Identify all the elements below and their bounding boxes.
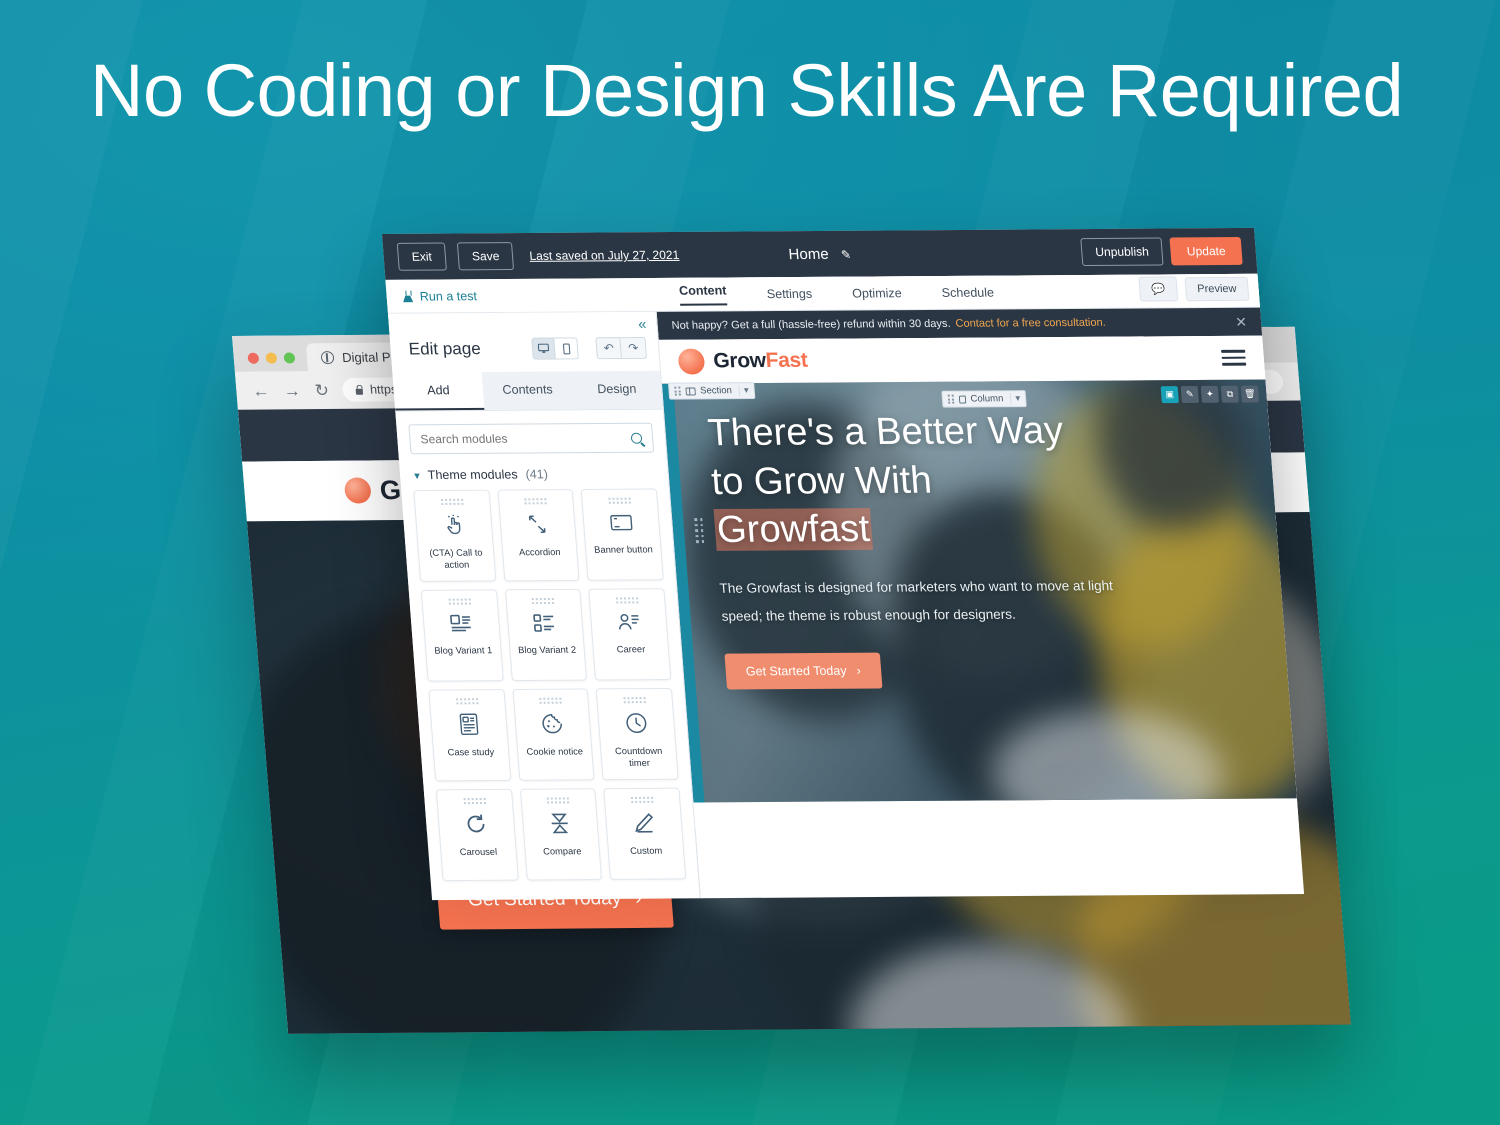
drag-handle-icon[interactable] (624, 697, 647, 703)
exit-button[interactable]: Exit (397, 243, 447, 271)
maximize-window-dot[interactable] (283, 352, 295, 363)
page-editor-window: Exit Save Last saved on July 27, 2021 Ho… (382, 228, 1299, 832)
module-card-cta[interactable]: (CTA) Call to action (413, 490, 496, 582)
canvas-logo-first: Grow (713, 349, 767, 372)
reload-icon[interactable]: ↻ (314, 382, 330, 399)
undo-icon[interactable]: ↶ (595, 337, 622, 359)
minimize-window-dot[interactable] (265, 353, 277, 364)
forward-icon[interactable]: → (283, 382, 301, 399)
cookie-icon (540, 712, 566, 741)
module-label: Banner button (590, 544, 657, 556)
wand-icon[interactable]: ✦ (1201, 386, 1219, 403)
module-card-blog-variant-2[interactable]: Blog Variant 2 (505, 589, 588, 681)
canvas-hero-heading: There's a Better Way to Grow With Growfa… (706, 405, 1278, 554)
module-card-case-study[interactable]: Case study (428, 689, 511, 781)
canvas-hero-cta-button[interactable]: Get Started Today › (724, 653, 882, 690)
collapse-panel-button[interactable]: « (388, 312, 657, 335)
drag-handle-icon[interactable] (948, 395, 954, 404)
lock-icon (355, 385, 364, 395)
editor-topbar: Exit Save Last saved on July 27, 2021 Ho… (382, 228, 1257, 280)
theme-modules-group-header[interactable]: ▾ Theme modules (41) (399, 462, 669, 490)
theme-modules-count: (41) (525, 467, 548, 481)
column-icon (958, 395, 966, 403)
module-label: (CTA) Call to action (419, 548, 495, 572)
module-label: Cookie notice (522, 746, 587, 758)
pencil-icon[interactable]: ✎ (1181, 386, 1199, 403)
section-chip-label: Section (700, 385, 733, 396)
last-saved-status[interactable]: Last saved on July 27, 2021 (529, 248, 680, 263)
mockup-stage: Digital Product ← → ↻ https://www.googl … (0, 0, 1500, 1125)
update-button[interactable]: Update (1170, 237, 1243, 265)
triangles-icon (547, 811, 573, 840)
module-grid: (CTA) Call to action Accordion (401, 488, 698, 881)
panel-title: Edit page (408, 339, 482, 359)
edit-page-panel: « Edit page ↶ ↷ (388, 312, 701, 900)
module-card-banner-button[interactable]: Banner button (581, 488, 664, 580)
diagonal-arrows-icon (525, 512, 551, 541)
tab-settings[interactable]: Settings (766, 286, 812, 300)
drag-handle-icon[interactable] (674, 387, 680, 396)
document-icon (457, 712, 481, 741)
hamburger-icon[interactable] (1221, 350, 1246, 366)
section-icon (685, 387, 696, 395)
drag-handle-icon[interactable] (463, 798, 486, 804)
logo-mark-icon (344, 477, 372, 503)
canvas-hero-cta-label: Get Started Today (745, 664, 847, 679)
drag-handle-icon[interactable] (532, 598, 555, 604)
back-icon[interactable]: ← (252, 382, 270, 399)
drag-handle-icon[interactable] (448, 599, 471, 605)
image-swap-icon[interactable]: ▣ (1161, 386, 1179, 403)
module-card-compare[interactable]: Compare (520, 788, 603, 880)
clock-icon (624, 711, 650, 740)
chevron-right-icon: › (856, 664, 861, 678)
drag-handle-icon[interactable] (609, 498, 632, 504)
tab-content[interactable]: Content (679, 283, 728, 305)
drag-handle-icon[interactable] (441, 499, 464, 505)
module-card-blog-variant-1[interactable]: Blog Variant 1 (421, 589, 504, 681)
panel-tab-contents[interactable]: Contents (482, 371, 574, 410)
page-title-text: Home (788, 245, 829, 262)
trash-icon[interactable]: 🗑 (1241, 386, 1259, 403)
tab-optimize[interactable]: Optimize (852, 286, 902, 300)
favicon-icon (320, 351, 334, 364)
panel-tab-add[interactable]: Add (392, 372, 484, 411)
module-label: Carousel (455, 847, 501, 859)
canvas-hero-heading-line-2: to Grow With (710, 454, 1275, 506)
module-label: Custom (626, 846, 667, 858)
module-label: Countdown timer (601, 746, 677, 770)
flask-icon (402, 290, 413, 302)
panel-tabs: Add Contents Design (392, 371, 663, 412)
theme-modules-label: Theme modules (427, 468, 518, 483)
canvas-hero-paragraph: The Growfast is designed for marketers w… (718, 572, 1143, 630)
canvas-site-logo[interactable]: GrowFast (677, 348, 808, 375)
mobile-icon[interactable] (554, 337, 579, 359)
preview-button[interactable]: Preview (1184, 276, 1249, 300)
canvas-hero-section: ▣ ✎ ✦ ⧉ 🗑 There's a Better Way to Grow W… (662, 379, 1297, 802)
panel-header: Edit page ↶ ↷ (390, 333, 660, 373)
banner-icon (609, 512, 635, 539)
promo-banner-link[interactable]: Contact for a free consultation. (955, 317, 1106, 330)
close-icon[interactable]: ✕ (1235, 313, 1248, 330)
module-card-career[interactable]: Career (589, 588, 672, 680)
tab-schedule[interactable]: Schedule (941, 285, 994, 299)
comment-icon[interactable]: 💬 (1138, 276, 1178, 301)
clone-icon[interactable]: ⧉ (1221, 386, 1239, 403)
column-drag-grip[interactable] (694, 518, 704, 542)
module-label: Accordion (515, 547, 565, 559)
drag-handle-icon[interactable] (456, 698, 479, 704)
drag-handle-icon[interactable] (631, 797, 654, 803)
pencil-icon[interactable]: ✎ (840, 247, 851, 261)
chevron-down-icon[interactable]: ▾ (414, 469, 421, 482)
unpublish-button[interactable]: Unpublish (1080, 238, 1164, 266)
module-label: Blog Variant 1 (430, 645, 497, 657)
close-window-dot[interactable] (247, 353, 259, 364)
module-card-countdown-timer[interactable]: Countdown timer (596, 688, 679, 780)
pencil-edit-icon (631, 811, 657, 840)
blog-rows-icon (532, 612, 558, 639)
canvas-hero-heading-line-1: There's a Better Way (706, 405, 1271, 457)
promo-banner-text: Not happy? Get a full (hassle-free) refu… (671, 318, 951, 332)
canvas-hero-heading-line-3: Growfast (714, 508, 874, 551)
click-hand-icon (441, 513, 467, 542)
drag-handle-icon[interactable] (525, 498, 548, 504)
run-a-test-button[interactable]: Run a test (402, 289, 477, 303)
drag-handle-icon[interactable] (616, 597, 639, 603)
module-label: Blog Variant 2 (514, 645, 581, 657)
module-label: Career (612, 644, 649, 656)
search-modules-field[interactable] (408, 423, 654, 455)
panel-tab-design[interactable]: Design (571, 371, 663, 410)
page-headline: No Coding or Design Skills Are Required (90, 52, 1430, 130)
column-chip-label: Column (970, 393, 1004, 404)
device-toggle[interactable] (531, 337, 579, 359)
preview-controls: 💬 Preview (1138, 276, 1249, 302)
desktop-icon[interactable] (531, 338, 556, 360)
section-chip[interactable]: Section ▾ (668, 382, 755, 400)
logo-mark-icon (677, 348, 705, 374)
caret-down-icon[interactable]: ▾ (1010, 393, 1021, 404)
search-input[interactable] (420, 431, 632, 446)
history-controls[interactable]: ↶ ↷ (595, 337, 647, 359)
module-label: Compare (539, 846, 586, 858)
run-a-test-label: Run a test (419, 289, 477, 303)
module-card-carousel[interactable]: Carousel (436, 789, 519, 881)
module-card-accordion[interactable]: Accordion (497, 489, 580, 581)
caret-down-icon[interactable]: ▾ (739, 385, 750, 396)
page-canvas: GrowFast Section ▾ (659, 336, 1304, 899)
module-card-custom[interactable]: Custom (604, 788, 687, 880)
module-label: Case study (443, 747, 499, 759)
save-button[interactable]: Save (457, 242, 515, 270)
element-edit-toolbar: ▣ ✎ ✦ ⧉ 🗑 (1161, 386, 1259, 404)
refresh-icon (463, 812, 489, 841)
column-chip[interactable]: Column ▾ (941, 390, 1026, 408)
search-icon[interactable] (631, 432, 643, 443)
redo-icon[interactable]: ↷ (620, 337, 647, 359)
blog-list-icon (448, 612, 474, 639)
drag-handle-icon[interactable] (540, 698, 563, 704)
promo-banner: Not happy? Get a full (hassle-free) refu… (657, 308, 1262, 340)
canvas-logo-second: Fast (765, 349, 808, 372)
window-traffic-lights[interactable] (243, 352, 308, 371)
drag-handle-icon[interactable] (547, 797, 570, 803)
module-card-cookie-notice[interactable]: Cookie notice (512, 689, 595, 781)
person-card-icon (616, 611, 642, 638)
